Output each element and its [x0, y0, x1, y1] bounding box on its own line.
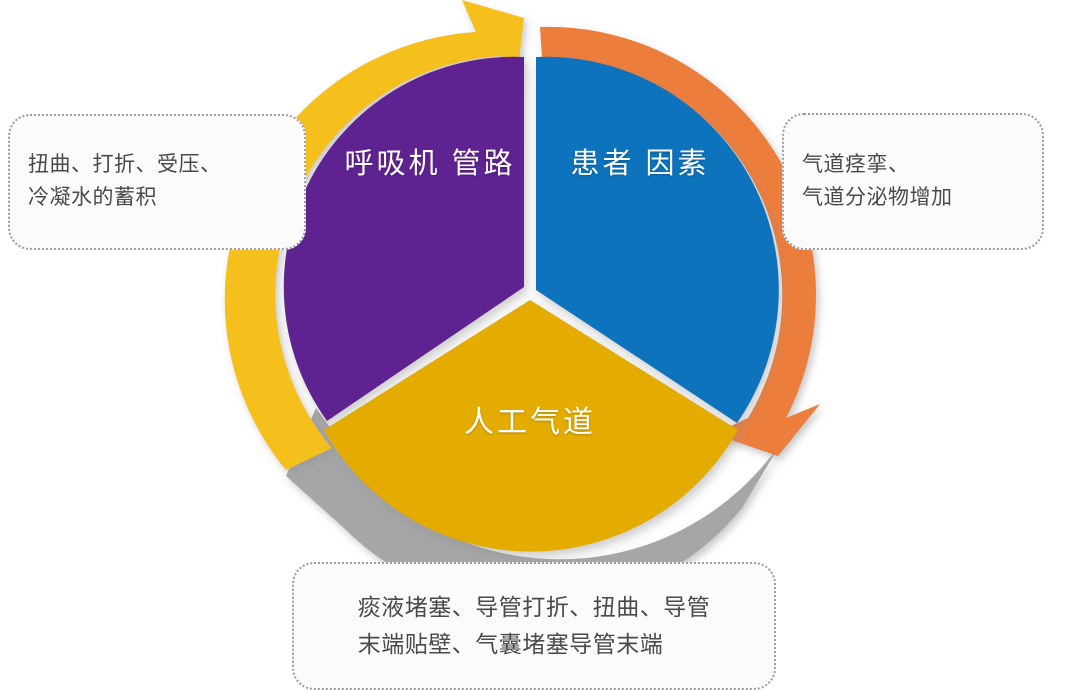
artificial-airway-callout: 痰液堵塞、导管打折、扭曲、导管 末端贴壁、气囊堵塞导管末端 [292, 562, 776, 690]
patient-factors-callout: 气道痉挛、 气道分泌物增加 [782, 113, 1044, 250]
callout-left-line2: 冷凝水的蓄积 [28, 182, 222, 215]
ventilator-circuit-callout: 扭曲、打折、受压、 冷凝水的蓄积 [8, 114, 306, 250]
callout-bottom-line1: 痰液堵塞、导管打折、扭曲、导管 [358, 589, 711, 626]
diagram-canvas: 呼吸机 管路 患者 因素 人工气道 扭曲、打折、受压、 冷凝水的蓄积 气道痉挛、… [0, 0, 1080, 678]
callout-right-line1: 气道痉挛、 [802, 149, 953, 182]
callout-right-line2: 气道分泌物增加 [802, 182, 953, 215]
callout-bottom-line2: 末端贴壁、气囊堵塞导管末端 [358, 626, 711, 663]
callout-left-line1: 扭曲、打折、受压、 [28, 149, 222, 182]
